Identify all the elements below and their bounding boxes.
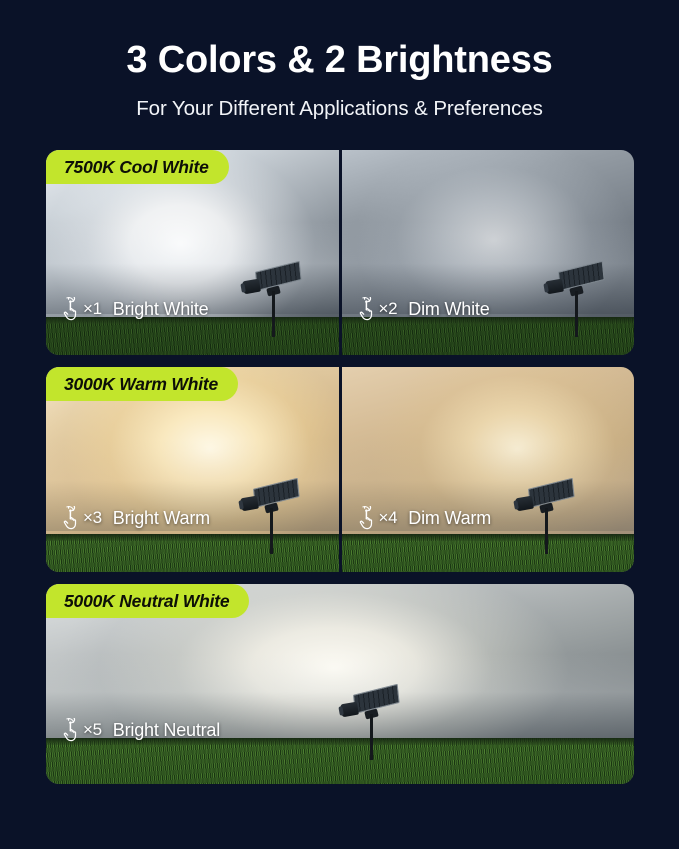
solar-spotlight-fixture (546, 261, 608, 337)
badge-label: 3000K Warm White (64, 374, 218, 395)
lamp-head-icon (545, 279, 564, 295)
ground-stake (575, 291, 578, 337)
solar-spotlight-fixture (341, 684, 403, 760)
caption-dim-white: ×2 Dim White (356, 297, 490, 321)
panel-dim-warm: ×4 Dim Warm (342, 367, 635, 572)
grass-strip (342, 534, 635, 572)
page-subtitle: For Your Different Applications & Prefer… (0, 81, 679, 121)
header: 3 Colors & 2 Brightness For Your Differe… (0, 0, 679, 121)
press-count: ×2 (379, 299, 398, 319)
lamp-head-icon (240, 496, 259, 512)
ground-stake (545, 508, 548, 554)
tap-hand-icon (60, 718, 82, 742)
tap-hand-icon (60, 297, 82, 321)
lamp-head-icon (515, 496, 534, 512)
ground-stake (370, 714, 373, 760)
press-count: ×4 (379, 508, 398, 528)
mode-label: Dim Warm (408, 508, 491, 529)
caption-bright-neutral: ×5 Bright Neutral (60, 718, 220, 742)
solar-spotlight-fixture (516, 478, 578, 554)
solar-spotlight-fixture (243, 261, 305, 337)
caption-dim-warm: ×4 Dim Warm (356, 506, 492, 530)
badge-5000k-neutral-white: 5000K Neutral White (46, 584, 249, 618)
mode-row-cool-white: 7500K Cool White (46, 150, 634, 355)
lamp-head-icon (340, 702, 359, 718)
grass-strip (46, 738, 634, 784)
mode-row-warm-white: 3000K Warm White (46, 367, 634, 572)
badge-7500k-cool-white: 7500K Cool White (46, 150, 229, 184)
badge-3000k-warm-white: 3000K Warm White (46, 367, 238, 401)
lamp-head-icon (242, 279, 261, 295)
press-count: ×1 (83, 299, 102, 319)
tap-hand-icon (356, 506, 378, 530)
tap-hand-icon (60, 506, 82, 530)
mode-label: Bright Warm (113, 508, 210, 529)
ground-stake (270, 508, 273, 554)
infographic-page: 3 Colors & 2 Brightness For Your Differe… (0, 0, 679, 849)
mode-rows: 7500K Cool White (46, 150, 634, 796)
caption-bright-white: ×1 Bright White (60, 297, 208, 321)
tap-hand-icon (356, 297, 378, 321)
solar-spotlight-fixture (241, 478, 303, 554)
panel-dim-white: ×2 Dim White (342, 150, 635, 355)
badge-label: 5000K Neutral White (64, 591, 229, 612)
badge-label: 7500K Cool White (64, 157, 209, 178)
caption-bright-warm: ×3 Bright Warm (60, 506, 210, 530)
page-title: 3 Colors & 2 Brightness (0, 41, 679, 81)
press-count: ×5 (83, 720, 102, 740)
mode-label: Bright Neutral (113, 720, 220, 741)
press-count: ×3 (83, 508, 102, 528)
ground-stake (272, 291, 275, 337)
mode-label: Bright White (113, 299, 209, 320)
mode-row-neutral-white: 5000K Neutral White (46, 584, 634, 784)
mode-label: Dim White (408, 299, 489, 320)
